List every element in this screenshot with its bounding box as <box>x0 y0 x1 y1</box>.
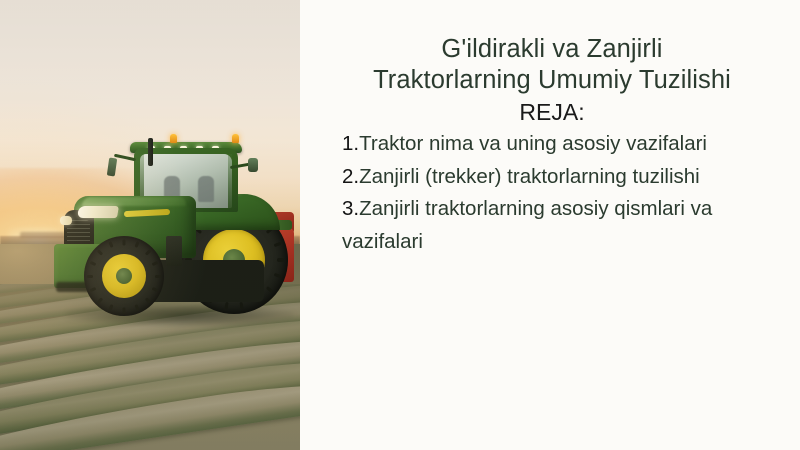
cab-pillar-rear <box>228 154 232 208</box>
page-title: G'ildirakli va Zanjirli Traktorlarning U… <box>342 34 762 96</box>
text-panel: G'ildirakli va Zanjirli Traktorlarning U… <box>300 0 800 450</box>
headlight-main <box>77 206 119 218</box>
beacon-light-left <box>170 134 177 143</box>
list-item: 2.Zanjirli (trekker) traktorlarning tuzi… <box>342 161 762 194</box>
tire-lug <box>240 302 244 309</box>
mirror-right <box>248 158 258 172</box>
list-item-number: 2. <box>342 165 359 188</box>
tire-lug <box>152 261 159 266</box>
front-wheel-rim <box>102 254 146 298</box>
tire-lug <box>89 287 96 292</box>
hood-highlight <box>82 197 186 206</box>
list-item-text: Zanjirli traktorlarning asosiy qismlari … <box>342 197 712 253</box>
tire-lug <box>277 258 284 261</box>
tire-lug <box>89 261 96 266</box>
title-line-2: Traktorlarning Umumiy Tuzilishi <box>373 66 731 94</box>
section-heading: REJA: <box>342 98 762 126</box>
mirror-arm-left <box>114 154 136 162</box>
agenda-list: 1.Traktor nima va uning asosiy vazifalar… <box>342 128 762 258</box>
tire-lug <box>224 302 228 309</box>
tire-lug <box>87 275 93 278</box>
headlight-lower <box>60 216 72 225</box>
tire-lug <box>152 287 159 292</box>
tractor-illustration <box>52 140 292 335</box>
tire-lug <box>273 273 281 278</box>
tractor-photo <box>0 0 300 450</box>
tire-lug <box>155 275 161 278</box>
tire-lug <box>108 304 113 311</box>
tire-lug <box>145 297 151 303</box>
list-item: 1.Traktor nima va uning asosiy vazifalar… <box>342 128 762 161</box>
tire-lug <box>97 249 103 255</box>
tire-lug <box>108 241 113 248</box>
tire-lug <box>134 304 139 311</box>
tire-lug <box>123 307 126 313</box>
tire-lug <box>266 286 273 293</box>
list-item: 3.Zanjirli traktorlarning asosiy qismlar… <box>342 193 762 258</box>
title-line-1: G'ildirakli va Zanjirli <box>441 35 662 63</box>
tire-lug <box>97 297 103 303</box>
text-panel-content: G'ildirakli va Zanjirli Traktorlarning U… <box>342 34 762 258</box>
cab-seat-2 <box>198 176 214 202</box>
front-wheel <box>84 236 164 316</box>
slide: G'ildirakli va Zanjirli Traktorlarning U… <box>0 0 800 450</box>
tire-lug <box>123 239 126 245</box>
mirror-left <box>107 158 117 177</box>
tire-lug <box>145 249 151 255</box>
cab-step <box>166 236 182 266</box>
beacon-light-right <box>232 134 239 143</box>
tire-lug <box>273 242 281 247</box>
list-item-text: Traktor nima va uning asosiy vazifalari <box>359 132 707 155</box>
tire-lug <box>134 241 139 248</box>
exhaust-stack <box>148 138 153 166</box>
list-item-number: 3. <box>342 197 359 220</box>
list-item-text: Zanjirli (trekker) traktorlarning tuzili… <box>359 165 700 188</box>
list-item-number: 1. <box>342 132 359 155</box>
